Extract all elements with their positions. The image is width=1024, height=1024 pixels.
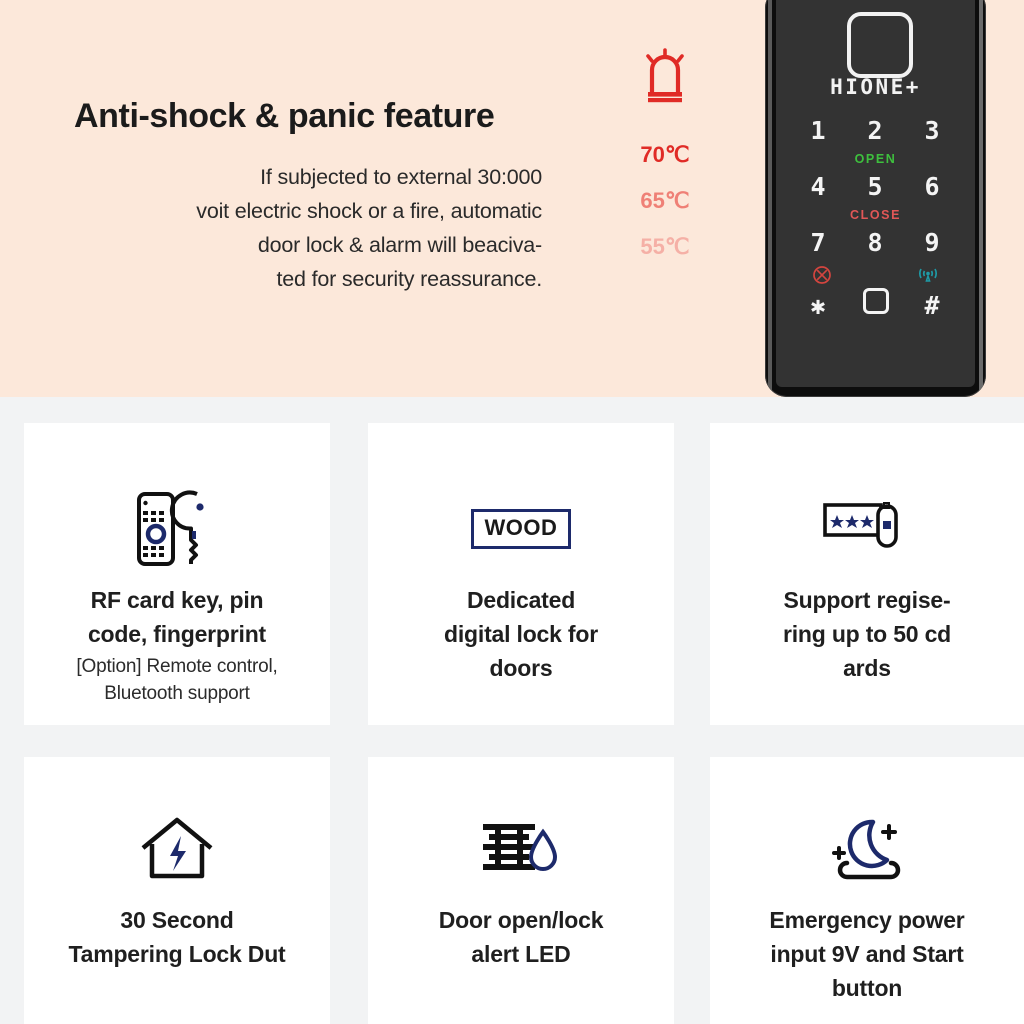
feature-card-emergency-power[interactable]: Emergency power input 9V and Start butto… bbox=[710, 757, 1024, 1024]
feature-card-wood-door-lock[interactable]: WOOD Dedicated digital lock for doors bbox=[368, 423, 674, 725]
card-title: Dedicated digital lock for doors bbox=[368, 583, 674, 685]
hero-line-2: voit electric shock or a fire, automatic bbox=[120, 194, 542, 228]
card-sub-line: Bluetooth support bbox=[32, 680, 322, 707]
card-sub-line: [Option] Remote control, bbox=[32, 653, 322, 680]
card-title-line: Tampering Lock Dut bbox=[38, 937, 316, 971]
smart-door-lock-device: HIONE+ 1 2 3 OPEN 4 5 6 CLOSE 7 8 9 bbox=[765, 0, 986, 397]
card-title-line: doors bbox=[382, 651, 660, 685]
device-indicator-row bbox=[790, 260, 961, 288]
keypad-row-4: ✱ # bbox=[790, 288, 961, 323]
house-with-lightning-icon bbox=[24, 801, 330, 897]
keypad-row-2: 4 5 6 bbox=[790, 170, 961, 204]
wireless-signal-icon[interactable] bbox=[917, 265, 939, 285]
card-title-line: 30 Second bbox=[38, 903, 316, 937]
key-8[interactable]: 8 bbox=[854, 226, 898, 260]
card-subtitle: [Option] Remote control, Bluetooth suppo… bbox=[24, 653, 330, 707]
card-title-line: alert LED bbox=[382, 937, 660, 971]
device-front-panel: HIONE+ 1 2 3 OPEN 4 5 6 CLOSE 7 8 9 bbox=[776, 0, 975, 387]
key-5[interactable]: 5 bbox=[854, 170, 898, 204]
hero-section: Anti-shock & panic feature If subjected … bbox=[0, 0, 1024, 397]
key-0-glyph bbox=[863, 288, 889, 314]
cancel-circle-x-icon[interactable] bbox=[812, 265, 832, 285]
key-6[interactable]: 6 bbox=[911, 170, 955, 204]
key-9[interactable]: 9 bbox=[911, 226, 955, 260]
feature-card-door-alert-led[interactable]: Door open/lock alert LED bbox=[368, 757, 674, 1024]
hero-description: If subjected to external 30:000 voit ele… bbox=[120, 160, 542, 296]
card-title-line: Support regise- bbox=[724, 583, 1010, 617]
keypad-row-3: 7 8 9 bbox=[790, 226, 961, 260]
hero-line-3: door lock & alarm will beaciva- bbox=[120, 228, 542, 262]
temperature-55: 55℃ bbox=[600, 224, 730, 270]
hero-line-1: If subjected to external 30:000 bbox=[120, 160, 542, 194]
status-close: CLOSE bbox=[790, 204, 961, 226]
key-4[interactable]: 4 bbox=[797, 170, 841, 204]
page-title: Anti-shock & panic feature bbox=[74, 97, 494, 136]
status-open: OPEN bbox=[790, 148, 961, 170]
card-title-line: ring up to 50 cd bbox=[724, 617, 1010, 651]
feature-card-tampering-lockout[interactable]: 30 Second Tampering Lock Dut bbox=[24, 757, 330, 1024]
brick-wall-with-water-drop-icon bbox=[368, 801, 674, 897]
card-title: Door open/lock alert LED bbox=[368, 903, 674, 971]
keypad: 1 2 3 OPEN 4 5 6 CLOSE 7 8 9 bbox=[790, 114, 961, 323]
card-title-line: RF card key, pin bbox=[38, 583, 316, 617]
remote-control-and-key-icon bbox=[24, 481, 330, 577]
card-title-line: Emergency power bbox=[724, 903, 1010, 937]
card-title-line: Dedicated bbox=[382, 583, 660, 617]
card-title-line: Door open/lock bbox=[382, 903, 660, 937]
card-title-line: button bbox=[724, 971, 1010, 1005]
fingerprint-sensor-icon[interactable] bbox=[847, 12, 913, 78]
card-title-line: code, fingerprint bbox=[38, 617, 316, 651]
temperature-scale: 70℃ 65℃ 55℃ bbox=[600, 48, 730, 270]
device-left-edge bbox=[768, 0, 772, 397]
key-1[interactable]: 1 bbox=[797, 114, 841, 148]
card-title-line: digital lock for bbox=[382, 617, 660, 651]
card-title: 30 Second Tampering Lock Dut bbox=[24, 903, 330, 971]
card-title-line: ards bbox=[724, 651, 1010, 685]
rf-card-and-fob-icon bbox=[710, 481, 1024, 577]
moon-with-stars-icon bbox=[710, 801, 1024, 897]
card-title: Emergency power input 9V and Start butto… bbox=[710, 903, 1024, 1005]
wood-badge: WOOD bbox=[471, 509, 572, 549]
card-title-line: input 9V and Start bbox=[724, 937, 1010, 971]
card-title: RF card key, pin code, fingerprint bbox=[24, 583, 330, 651]
key-0[interactable] bbox=[854, 288, 898, 323]
card-title: Support regise- ring up to 50 cd ards bbox=[710, 583, 1024, 685]
key-3[interactable]: 3 bbox=[911, 114, 955, 148]
temperature-65: 65℃ bbox=[600, 178, 730, 224]
key-2[interactable]: 2 bbox=[854, 114, 898, 148]
feature-card-card-registration[interactable]: Support regise- ring up to 50 cd ards bbox=[710, 423, 1024, 725]
key-star[interactable]: ✱ bbox=[797, 289, 841, 323]
temperature-70: 70℃ bbox=[600, 132, 730, 178]
keypad-row-1: 1 2 3 bbox=[790, 114, 961, 148]
wood-label-icon: WOOD bbox=[368, 481, 674, 577]
key-7[interactable]: 7 bbox=[797, 226, 841, 260]
feature-card-rf-card-key[interactable]: RF card key, pin code, fingerprint [Opti… bbox=[24, 423, 330, 725]
device-right-edge bbox=[979, 0, 983, 397]
device-brand-label: HIONE+ bbox=[776, 75, 975, 99]
hero-line-4: ted for security reassurance. bbox=[120, 262, 542, 296]
siren-alarm-icon bbox=[639, 48, 691, 104]
key-hash[interactable]: # bbox=[911, 289, 955, 323]
